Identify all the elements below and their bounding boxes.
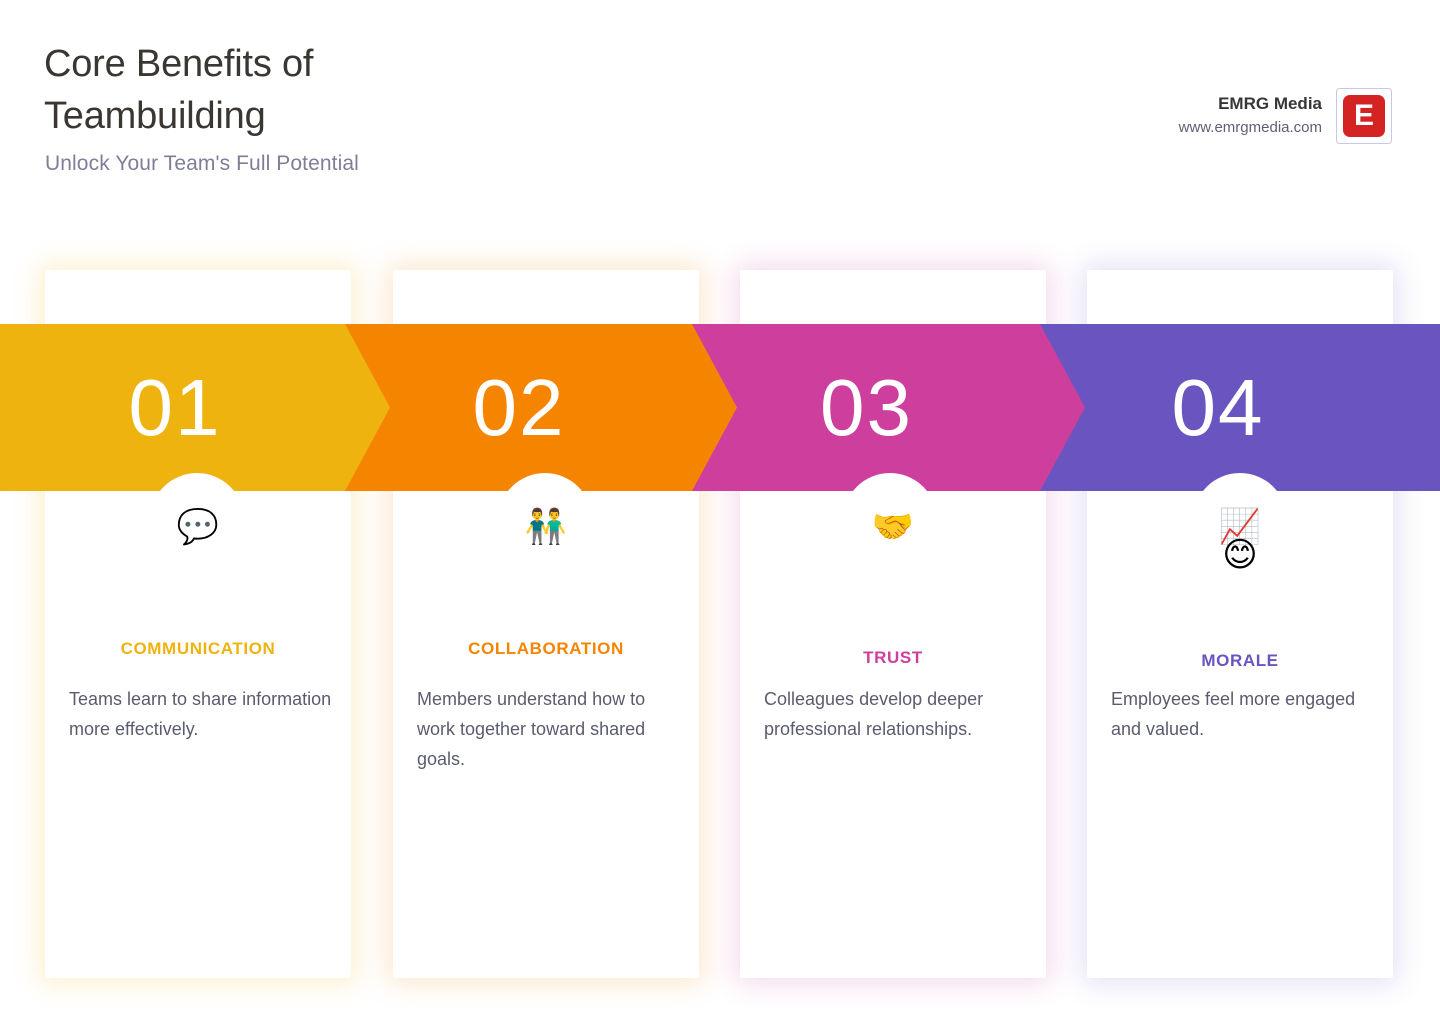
- benefit-description: Members understand how to work together …: [417, 684, 685, 774]
- cards-container: 💬 COMMUNICATION Teams learn to share inf…: [0, 0, 1440, 1024]
- card-emoji-primary: 💬: [45, 507, 351, 547]
- chevron-step-band: 01 02 03 04: [0, 324, 1440, 491]
- step-number: 04: [1172, 368, 1265, 448]
- benefit-description: Teams learn to share information more ef…: [69, 684, 337, 744]
- benefit-description: Employees feel more engaged and valued.: [1111, 684, 1379, 744]
- infographic-canvas: Core Benefits of Teambuilding Unlock You…: [0, 0, 1440, 1024]
- step-number: 02: [473, 368, 566, 448]
- chevron-step-1[interactable]: 01: [0, 324, 390, 491]
- speech-balloon-icon: 💬: [45, 507, 351, 547]
- chevron-step-2[interactable]: 02: [345, 324, 737, 491]
- chevron-step-4[interactable]: 04: [1040, 324, 1440, 491]
- benefit-label: COLLABORATION: [393, 639, 699, 659]
- step-number: 03: [820, 368, 913, 448]
- chevron-step-3[interactable]: 03: [692, 324, 1085, 491]
- handshake-icon: 🤝: [740, 507, 1046, 547]
- chart-increasing-and-smiling-face-icon: 📈 😊: [1087, 507, 1393, 575]
- step-number: 01: [129, 368, 222, 448]
- benefit-label: MORALE: [1087, 651, 1393, 671]
- card-emoji-primary: 🤝: [740, 507, 1046, 547]
- card-emoji-secondary: 😊: [1087, 535, 1393, 575]
- benefit-description: Colleagues develop deeper professional r…: [764, 684, 1032, 744]
- benefit-label: TRUST: [740, 648, 1046, 668]
- card-emoji-primary: 👬: [393, 507, 699, 547]
- benefit-label: COMMUNICATION: [45, 639, 351, 659]
- two-men-holding-hands-icon: 👬: [393, 507, 699, 547]
